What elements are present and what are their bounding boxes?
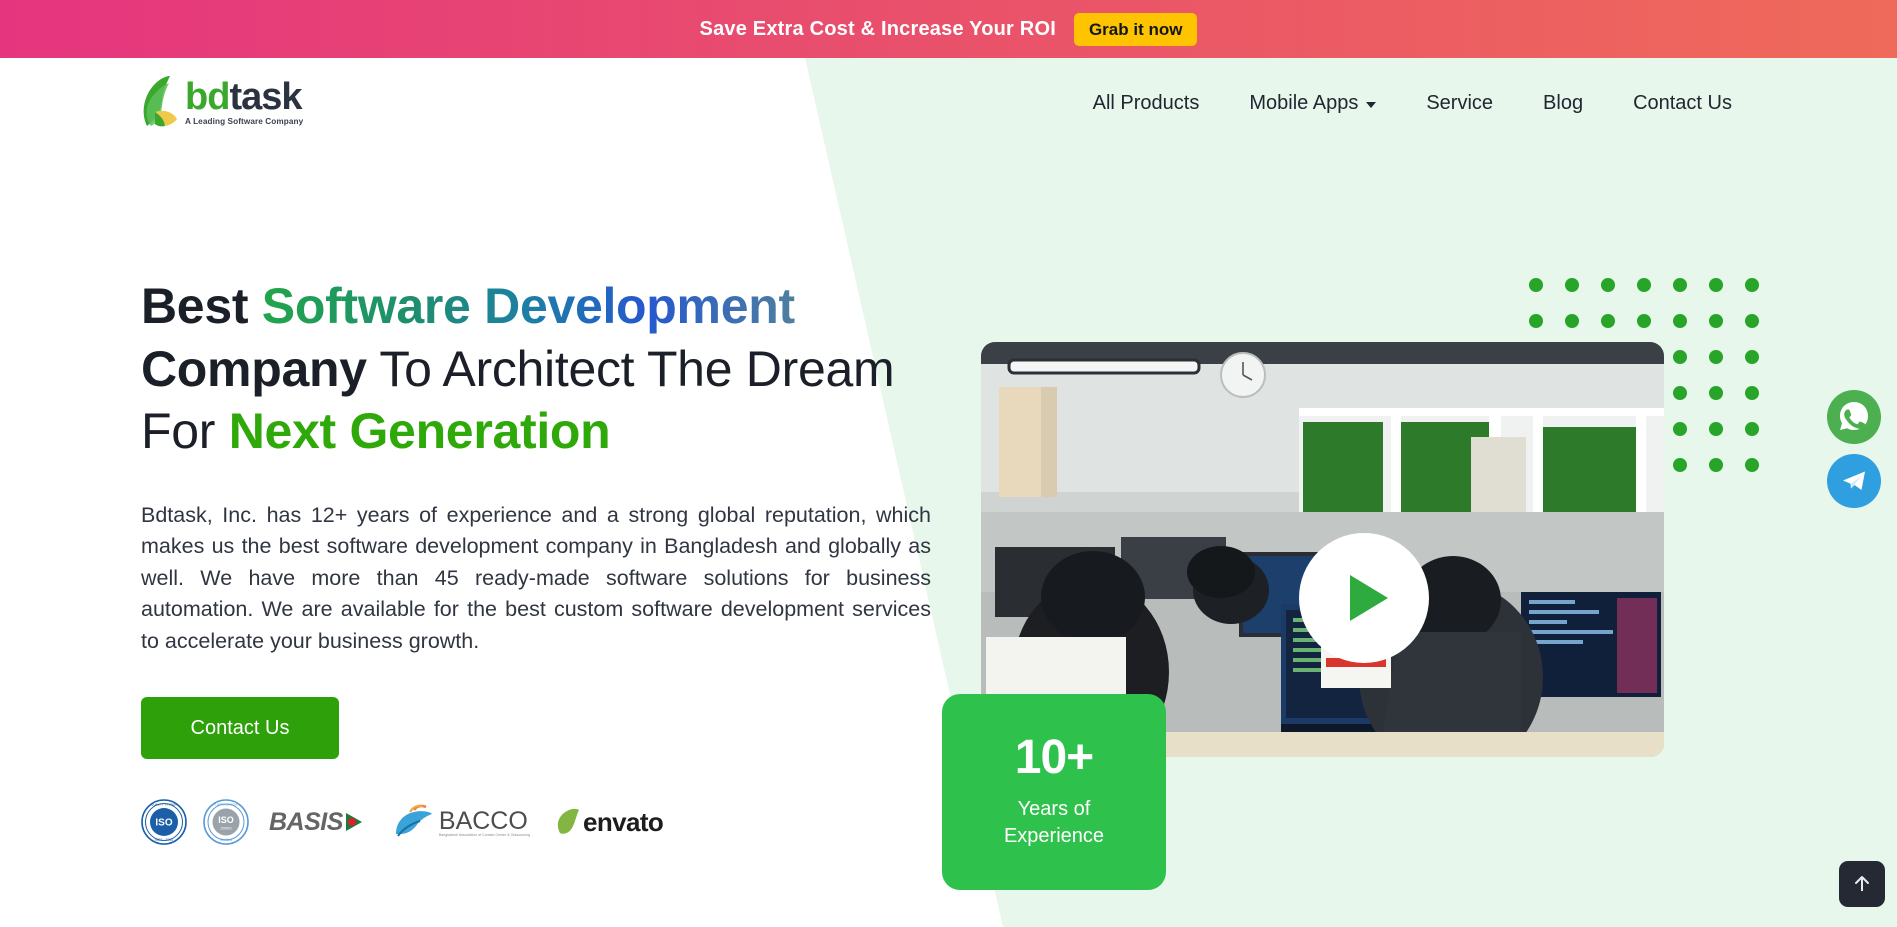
whatsapp-button[interactable] [1827,390,1881,444]
svg-text:ISO: ISO [218,815,234,825]
site-header: bdtask A Leading Software Company All Pr… [0,58,1897,148]
nav-item-contact-us[interactable]: Contact Us [1608,92,1757,115]
basis-label: BASIS [269,808,343,837]
certification-badges: ISO 9001 : 2015 QUALITY SYSTEM ISO 20000… [141,799,931,845]
headline-part-best: Best [141,278,262,334]
contact-us-button[interactable]: Contact Us [141,697,339,759]
telegram-button[interactable] [1827,454,1881,508]
experience-number: 10+ [1015,734,1093,782]
experience-badge: 10+ Years of Experience [942,694,1166,890]
nav-label: All Products [1093,92,1200,115]
svg-text:20000: 20000 [220,826,232,831]
bacco-label: BACCO [439,807,528,835]
svg-text:ISO: ISO [155,818,172,829]
nav-label: Mobile Apps [1249,92,1358,115]
experience-line-2: Experience [1004,825,1104,847]
promo-banner: Save Extra Cost & Increase Your ROI Grab… [0,0,1897,58]
nav-item-all-products[interactable]: All Products [1068,92,1225,115]
nav-label: Blog [1543,92,1583,115]
main-navigation: All Products Mobile Apps Service Blog Co… [1068,58,1757,148]
experience-line-1: Years of [1018,798,1091,820]
floating-contact-widgets [1827,390,1881,508]
headline-part-software-development: Software Development [262,278,795,334]
svg-text:9001 : 2015: 9001 : 2015 [155,838,173,842]
basis-badge: BASIS [269,808,366,837]
svg-text:QUALITY SYSTEM: QUALITY SYSTEM [151,803,177,807]
page-title: Best Software Development Company To Arc… [141,275,931,463]
telegram-icon [1837,464,1871,498]
envato-badge: envato [556,807,663,838]
logo-word-task: task [229,76,301,118]
grab-it-now-button[interactable]: Grab it now [1074,13,1198,46]
arrow-up-icon [1851,873,1873,895]
nav-item-service[interactable]: Service [1401,92,1518,115]
nav-label: Contact Us [1633,92,1732,115]
envato-leaf-icon [556,808,580,836]
hero-left-column: Best Software Development Company To Arc… [141,275,931,845]
nav-label: Service [1426,92,1493,115]
chevron-down-icon [1366,102,1376,108]
promo-text: Save Extra Cost & Increase Your ROI [700,18,1056,41]
hero-paragraph: Bdtask, Inc. has 12+ years of experience… [141,500,931,658]
play-icon [1350,575,1388,621]
envato-label: envato [583,807,663,838]
logo-tagline: A Leading Software Company [185,117,303,126]
brand-logo[interactable]: bdtask A Leading Software Company [141,76,303,128]
basis-flag-icon [346,812,366,832]
nav-item-blog[interactable]: Blog [1518,92,1608,115]
headline-part-next-generation: Next Generation [229,403,611,459]
svg-text:IT SERVICE MGMT: IT SERVICE MGMT [214,803,239,807]
bacco-mark-icon [392,804,434,840]
iso-9001-badge-icon: ISO 9001 : 2015 QUALITY SYSTEM [141,799,187,845]
svg-text:Certified: Certified [220,838,232,842]
scroll-to-top-button[interactable] [1839,861,1885,907]
whatsapp-icon [1837,400,1871,434]
headline-part-company: Company [141,341,367,397]
bacco-sublabel: Bangladesh Association of Contact Center… [439,833,530,837]
nav-item-mobile-apps[interactable]: Mobile Apps [1224,92,1401,115]
iso-20000-badge-icon: ISO 20000 Certified IT SERVICE MGMT [203,799,249,845]
experience-label: Years of Experience [1004,796,1104,850]
leaf-logo-icon [141,76,178,128]
bacco-badge: BACCO Bangladesh Association of Contact … [392,804,530,840]
play-button[interactable] [1299,533,1429,663]
logo-word-bd: bd [185,76,229,118]
